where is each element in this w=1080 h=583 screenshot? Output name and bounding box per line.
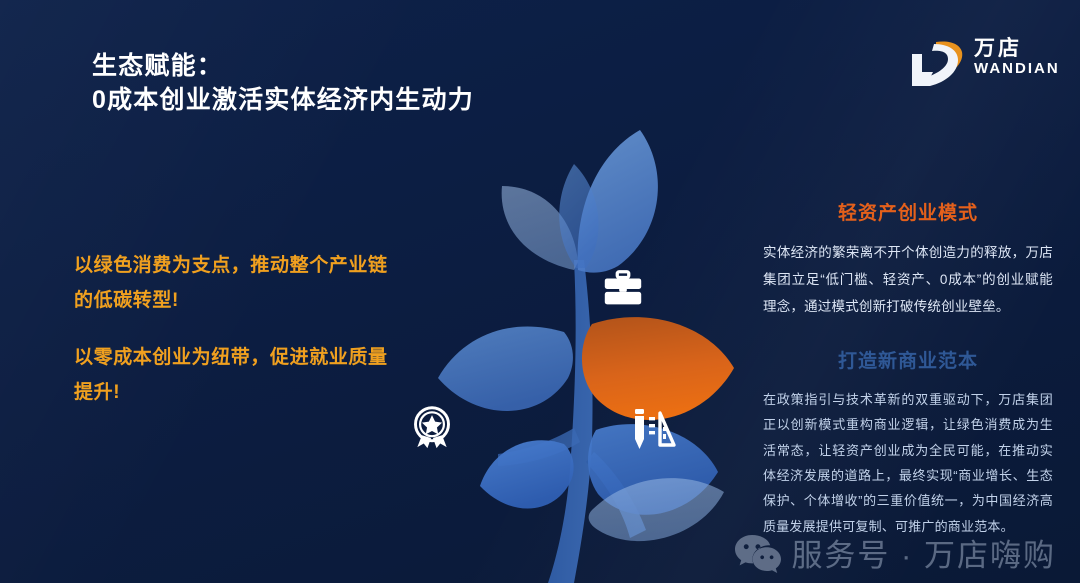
logo-chinese-name: 万店 bbox=[974, 38, 1060, 60]
content-sections: 轻资产创业模式 实体经济的繁荣离不开个体创造力的释放，万店集团立足“低门槛、轻资… bbox=[763, 198, 1053, 539]
logo-text: 万店 WANDIAN bbox=[974, 38, 1060, 78]
award-badge-icon bbox=[410, 405, 454, 449]
plant-stem bbox=[548, 260, 593, 583]
slogan-item: 以零成本创业为纽带，促进就业质量提升! bbox=[74, 340, 404, 410]
section-heading: 打造新商业范本 bbox=[763, 346, 1053, 373]
section-heading: 轻资产创业模式 bbox=[763, 198, 1053, 225]
pencil-ruler-icon bbox=[630, 405, 678, 453]
presentation-slide: 生态赋能： 0成本创业激活实体经济内生动力 万店 WANDIAN 以绿色消费为支… bbox=[0, 0, 1080, 583]
plant-svg bbox=[378, 110, 768, 583]
brand-logo: 万店 WANDIAN bbox=[906, 34, 1058, 96]
section-body: 在政策指引与技术革新的双重驱动下，万店集团正以创新模式重构商业逻辑，让绿色消费成… bbox=[763, 387, 1053, 539]
leaf-mid-left bbox=[438, 327, 573, 411]
section-body: 实体经济的繁荣离不开个体创造力的释放，万店集团立足“低门槛、轻资产、0成本”的创… bbox=[763, 239, 1053, 320]
briefcase-icon bbox=[600, 266, 646, 312]
slogan-list: 以绿色消费为支点，推动整个产业链的低碳转型! 以零成本创业为纽带，促进就业质量提… bbox=[74, 248, 404, 411]
plant-growth-illustration bbox=[378, 110, 768, 583]
page-title: 生态赋能： 0成本创业激活实体经济内生动力 bbox=[92, 50, 474, 117]
logo-mark-icon bbox=[906, 38, 968, 90]
section-new-business-model: 打造新商业范本 在政策指引与技术革新的双重驱动下，万店集团正以创新模式重构商业逻… bbox=[763, 346, 1053, 539]
title-line-1: 生态赋能： bbox=[92, 50, 474, 84]
leaf-lower-left bbox=[480, 440, 574, 508]
logo-english-name: WANDIAN bbox=[974, 61, 1060, 78]
slogan-item: 以绿色消费为支点，推动整个产业链的低碳转型! bbox=[74, 248, 404, 318]
section-light-asset: 轻资产创业模式 实体经济的繁荣离不开个体创造力的释放，万店集团立足“低门槛、轻资… bbox=[763, 198, 1053, 320]
